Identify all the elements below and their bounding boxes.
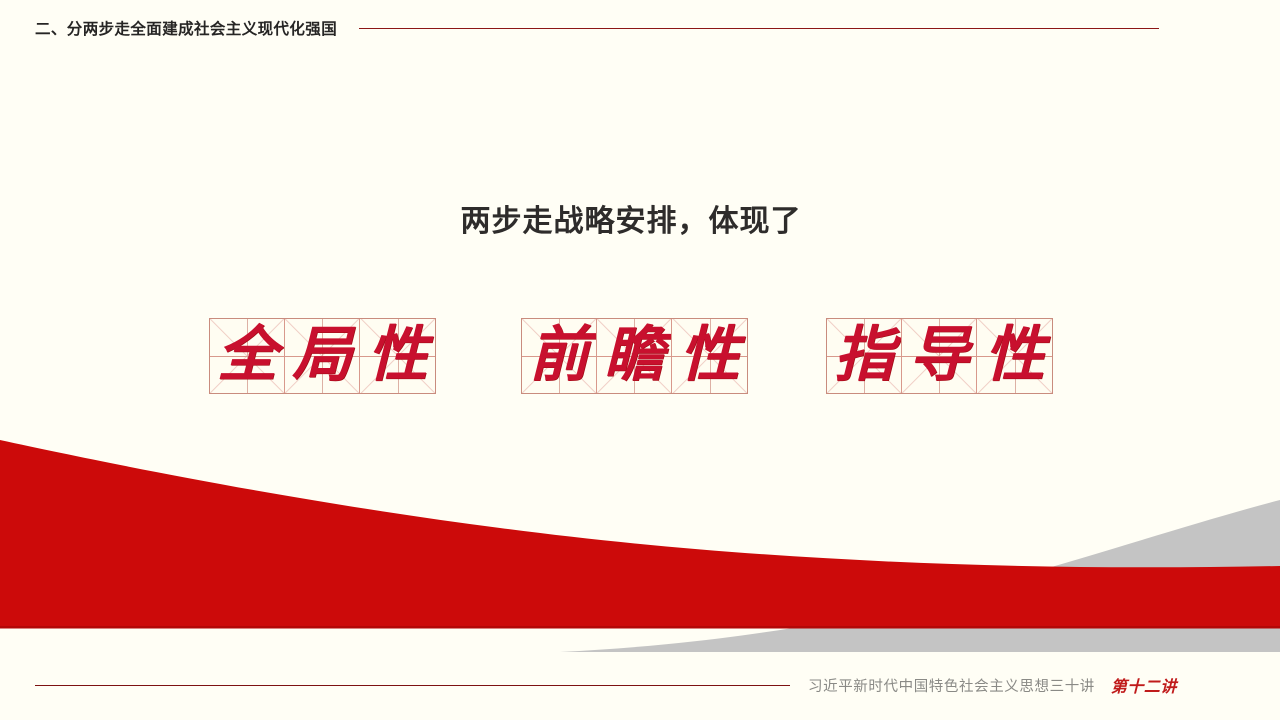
slide-canvas: 二、分两步走全面建成社会主义现代化强国 两步走战略安排，体现了 全 局 [0, 0, 1280, 720]
slide-header: 二、分两步走全面建成社会主义现代化强国 [0, 13, 1280, 43]
calligraphy-character: 全 [210, 319, 284, 393]
calligraphy-character: 局 [285, 319, 359, 393]
calligraphy-character: 前 [522, 319, 596, 393]
page-title: 两步走战略安排，体现了 [0, 196, 1262, 240]
calligraphy-grid-group: 指 导 性 [826, 318, 1053, 394]
calligraphy-grid-group: 全 局 性 [209, 318, 436, 394]
section-heading: 二、分两步走全面建成社会主义现代化强国 [35, 17, 337, 39]
grid-cell: 性 [977, 319, 1052, 393]
footer-divider-line [35, 685, 790, 686]
grid-cell: 全 [210, 319, 285, 393]
red-swoosh-shape [0, 440, 1280, 628]
calligraphy-character: 性 [672, 319, 747, 393]
grid-cell: 导 [902, 319, 977, 393]
grid-cell: 性 [360, 319, 435, 393]
grid-cell: 局 [285, 319, 360, 393]
calligraphy-groups: 全 局 性 前 [0, 318, 1280, 394]
grid-cell: 指 [827, 319, 902, 393]
footer-series-title: 习近平新时代中国特色社会主义思想三十讲 [808, 675, 1095, 696]
calligraphy-character: 指 [827, 319, 901, 393]
calligraphy-character: 性 [360, 319, 435, 393]
grid-cell: 前 [522, 319, 597, 393]
header-divider-line [359, 28, 1159, 29]
calligraphy-character: 瞻 [597, 319, 671, 393]
red-band-base-line [0, 626, 1280, 629]
grid-cell: 瞻 [597, 319, 672, 393]
calligraphy-character: 导 [902, 319, 976, 393]
footer-lecture-number: 第十二讲 [1111, 673, 1177, 697]
slide-footer: 习近平新时代中国特色社会主义思想三十讲 第十二讲 [0, 668, 1280, 702]
calligraphy-grid-group: 前 瞻 性 [521, 318, 748, 394]
grid-cell: 性 [672, 319, 747, 393]
calligraphy-character: 性 [977, 319, 1052, 393]
